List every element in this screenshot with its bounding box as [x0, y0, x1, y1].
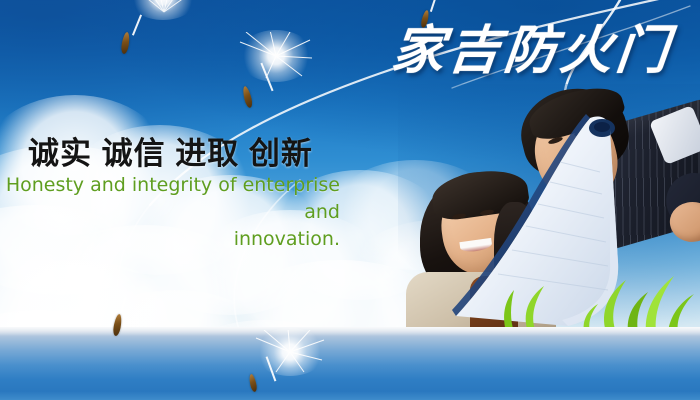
- slogan-english-line2: innovation.: [4, 226, 340, 253]
- dandelion-seed-icon: [108, 0, 178, 60]
- slogan-english-line1: Honesty and integrity of enterprise and: [4, 172, 340, 226]
- dandelion-seed-icon: [108, 310, 138, 350]
- grass-blade-icon: [488, 272, 700, 332]
- water-horizon-band: [0, 327, 700, 400]
- dandelion-seed-icon: [226, 36, 296, 96]
- slogan-english: Honesty and integrity of enterprise and …: [4, 172, 340, 253]
- horizon-highlight: [0, 327, 700, 336]
- company-banner: 家吉防火门 诚实 诚信 进取 创新 Honesty and integrity …: [0, 0, 700, 400]
- dandelion-seed-icon: [236, 322, 332, 382]
- brand-title: 家吉防火门: [388, 18, 675, 88]
- slogan-chinese: 诚实 诚信 进取 创新: [28, 128, 313, 173]
